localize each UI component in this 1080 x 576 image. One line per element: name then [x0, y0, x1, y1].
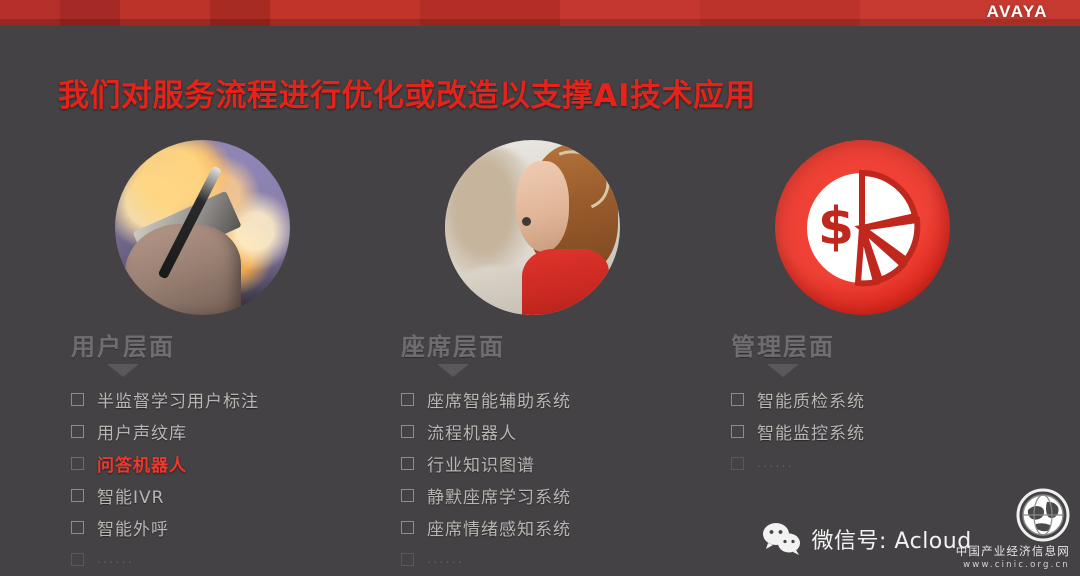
pie-chart-icon: $ [802, 168, 922, 288]
headset-mic-shape [522, 217, 531, 226]
column-heading: 管理层面 [705, 327, 1035, 362]
list-item[interactable]: 座席智能辅助系统 [401, 383, 705, 415]
list-item[interactable]: 用户声纹库 [71, 415, 375, 447]
list-item[interactable]: 智能IVR [71, 479, 375, 511]
list-item[interactable]: 智能质检系统 [731, 383, 1035, 415]
feature-list: 半监督学习用户标注 用户声纹库 问答机器人 智能IVR 智能外呼 [45, 383, 375, 575]
list-item-label: 行业知识图谱 [427, 451, 535, 476]
checkbox-icon [401, 553, 414, 566]
list-item[interactable]: 座席情绪感知系统 [401, 511, 705, 543]
checkbox-icon[interactable] [731, 425, 744, 438]
globe-logo-icon [1016, 488, 1070, 542]
list-item-highlighted[interactable]: 问答机器人 [71, 447, 375, 479]
red-pie-chart-dollar-icon: $ [775, 140, 950, 315]
checkbox-icon[interactable] [71, 425, 84, 438]
list-item-ellipsis: ...... [401, 543, 705, 575]
checkbox-icon[interactable] [401, 425, 414, 438]
wechat-watermark: 微信号: Acloud [762, 522, 972, 570]
list-item-label: 智能质检系统 [757, 387, 865, 412]
checkbox-icon[interactable] [401, 457, 414, 470]
checkbox-icon[interactable] [71, 393, 84, 406]
list-item-label: 静默座席学习系统 [427, 483, 571, 508]
wechat-id-label: 微信号: Acloud [812, 523, 972, 555]
list-item[interactable]: 智能外呼 [71, 511, 375, 543]
checkbox-icon [731, 457, 744, 470]
feature-list: 智能质检系统 智能监控系统 ...... [705, 383, 1035, 479]
red-top-shape [522, 249, 610, 316]
watermark: 微信号: Acloud 中国产业经济信息网 www.cinic.org.cn [762, 488, 1070, 570]
list-item-label: ...... [97, 552, 134, 567]
column-management-level: $ 管理层面 智能质检系统 智能监控系统 ...... [705, 140, 1035, 495]
wechat-icon [762, 522, 802, 556]
feature-list: 座席智能辅助系统 流程机器人 行业知识图谱 静默座席学习系统 座席情绪感知系统 [375, 383, 705, 575]
checkbox-icon[interactable] [401, 489, 414, 502]
column-user-level: 用户层面 半监督学习用户标注 用户声纹库 问答机器人 智能IVR [45, 140, 375, 576]
list-item[interactable]: 流程机器人 [401, 415, 705, 447]
column-agent-level: 座席层面 座席智能辅助系统 流程机器人 行业知识图谱 静默座席学习系统 [375, 140, 705, 576]
cinic-site-url: www.cinic.org.cn [956, 560, 1070, 570]
checkbox-icon[interactable] [71, 457, 84, 470]
checkbox-icon[interactable] [401, 393, 414, 406]
slide-title: 我们对服务流程进行优化或改造以支撑AI技术应用 [58, 70, 756, 115]
list-item-label: 智能IVR [97, 483, 164, 508]
top-red-band: AVAYA [0, 0, 1080, 26]
list-item[interactable]: 行业知识图谱 [401, 447, 705, 479]
list-item-label: ...... [757, 456, 794, 471]
hand-with-stylus-bokeh-photo [115, 140, 290, 315]
column-image-wrap [115, 140, 290, 315]
list-item-label: 智能监控系统 [757, 419, 865, 444]
list-item[interactable]: 智能监控系统 [731, 415, 1035, 447]
list-item-label: 智能外呼 [97, 515, 169, 540]
list-item-ellipsis: ...... [71, 543, 375, 575]
down-arrow-icon [705, 364, 1035, 377]
list-item-label: 座席智能辅助系统 [427, 387, 571, 412]
list-item-label: 用户声纹库 [97, 419, 187, 444]
down-arrow-icon [375, 364, 705, 377]
svg-text:$: $ [818, 197, 854, 257]
list-item-label: ...... [427, 552, 464, 567]
checkbox-icon[interactable] [71, 489, 84, 502]
avaya-logo: AVAYA [987, 2, 1048, 22]
list-item[interactable]: 半监督学习用户标注 [71, 383, 375, 415]
checkbox-icon[interactable] [401, 521, 414, 534]
presentation-slide: AVAYA 我们对服务流程进行优化或改造以支撑AI技术应用 用户层面 半监督学习… [0, 0, 1080, 576]
list-item-label: 半监督学习用户标注 [97, 387, 259, 412]
list-item[interactable]: 静默座席学习系统 [401, 479, 705, 511]
column-image-wrap: $ [775, 140, 950, 315]
list-item-label: 问答机器人 [97, 451, 187, 476]
list-item-label: 流程机器人 [427, 419, 517, 444]
checkbox-icon[interactable] [731, 393, 744, 406]
column-heading: 用户层面 [45, 327, 375, 362]
cinic-watermark: 中国产业经济信息网 www.cinic.org.cn [956, 488, 1070, 570]
list-item-ellipsis: ...... [731, 447, 1035, 479]
checkbox-icon [71, 553, 84, 566]
call-center-agent-photo [445, 140, 620, 315]
checkbox-icon[interactable] [71, 521, 84, 534]
column-heading: 座席层面 [375, 327, 705, 362]
cinic-site-name: 中国产业经济信息网 [956, 543, 1070, 559]
down-arrow-icon [45, 364, 375, 377]
list-item-label: 座席情绪感知系统 [427, 515, 571, 540]
column-image-wrap [445, 140, 620, 315]
